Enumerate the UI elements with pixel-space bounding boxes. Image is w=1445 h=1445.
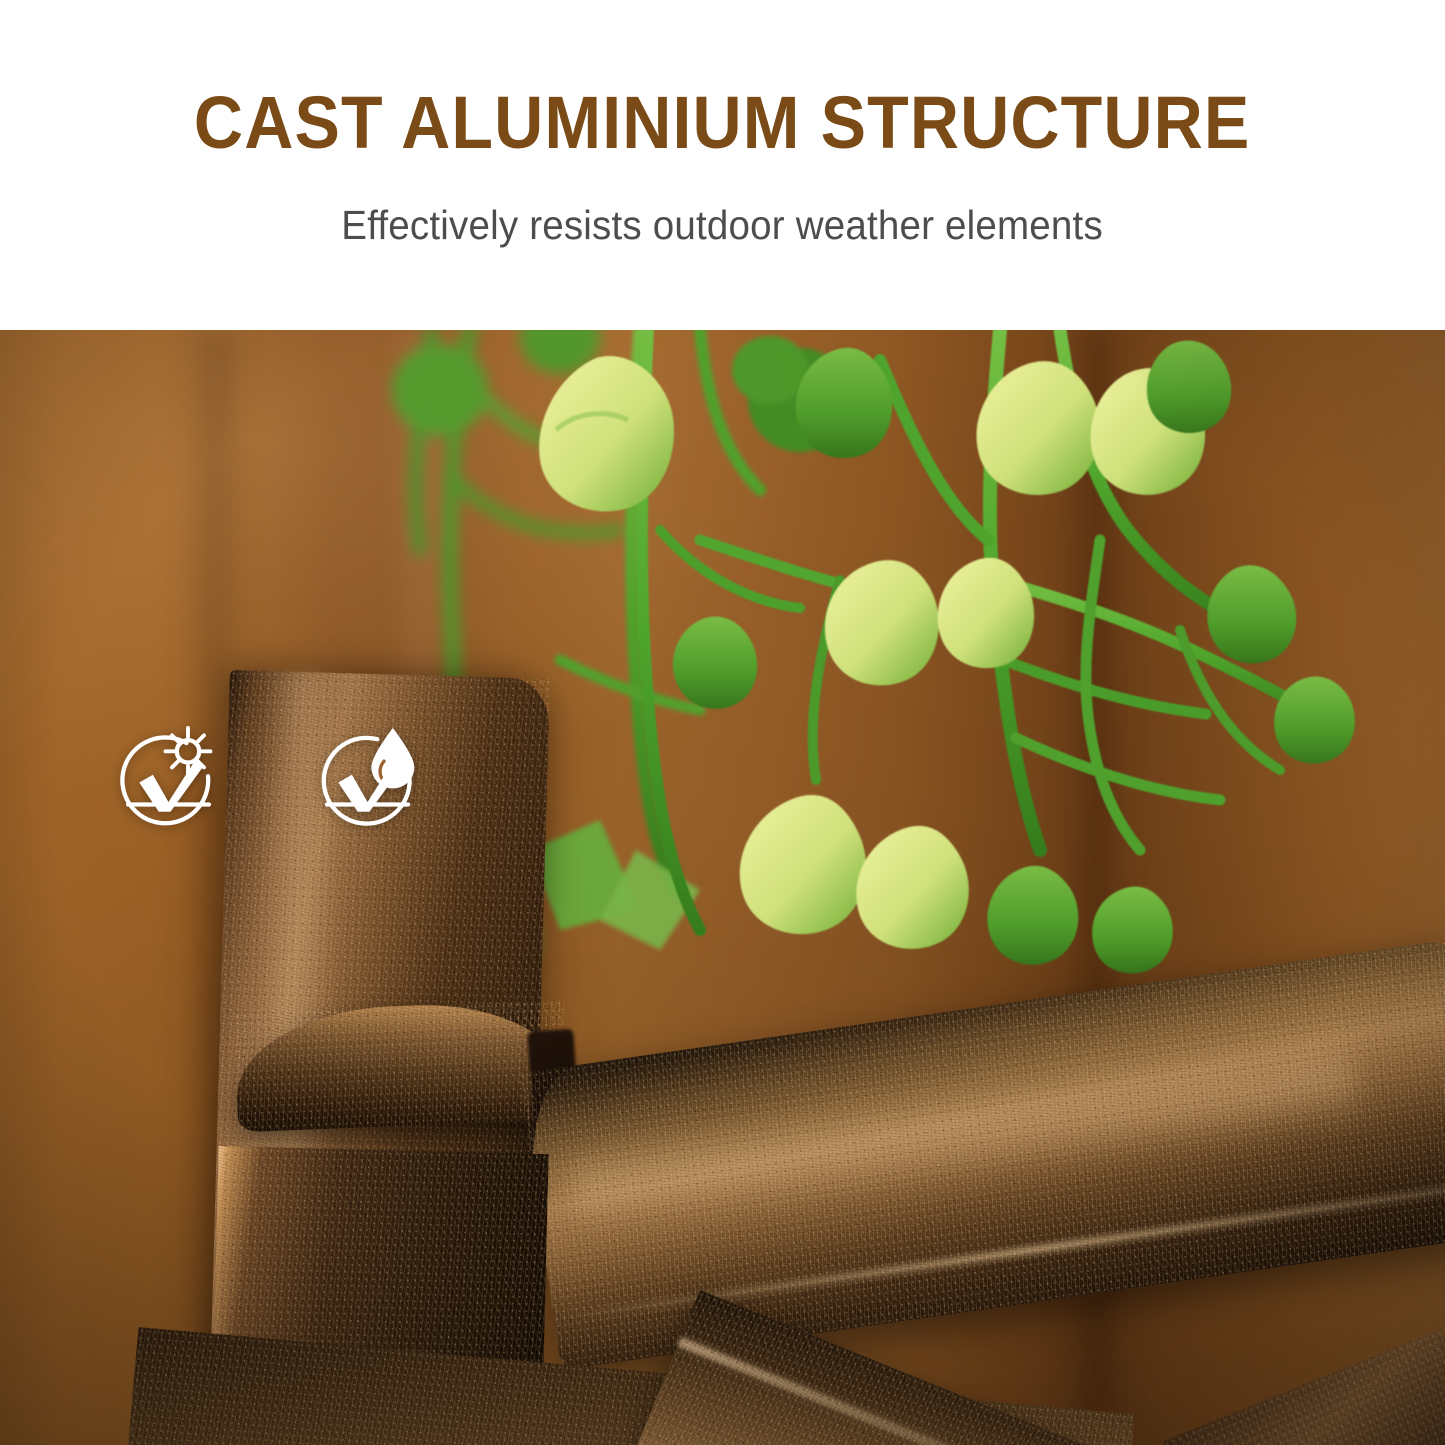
product-photo: 2 Surface Processes Powder Coating → Pai… xyxy=(0,330,1445,1445)
frame-arm-cap xyxy=(234,1000,568,1133)
page-title: CAST ALUMINIUM STRUCTURE xyxy=(194,86,1250,160)
feature-water-resistant xyxy=(309,722,426,852)
water-drop-surface-check-icon xyxy=(309,722,426,847)
feature-uv-resistant xyxy=(110,722,227,852)
page-subtitle: Effectively resists outdoor weather elem… xyxy=(342,202,1104,249)
product-feature-graphic: CAST ALUMINIUM STRUCTURE Effectively res… xyxy=(0,0,1445,1445)
feature-icon-group xyxy=(110,722,426,852)
header-band: CAST ALUMINIUM STRUCTURE Effectively res… xyxy=(0,0,1445,330)
sun-surface-check-icon xyxy=(110,722,227,847)
